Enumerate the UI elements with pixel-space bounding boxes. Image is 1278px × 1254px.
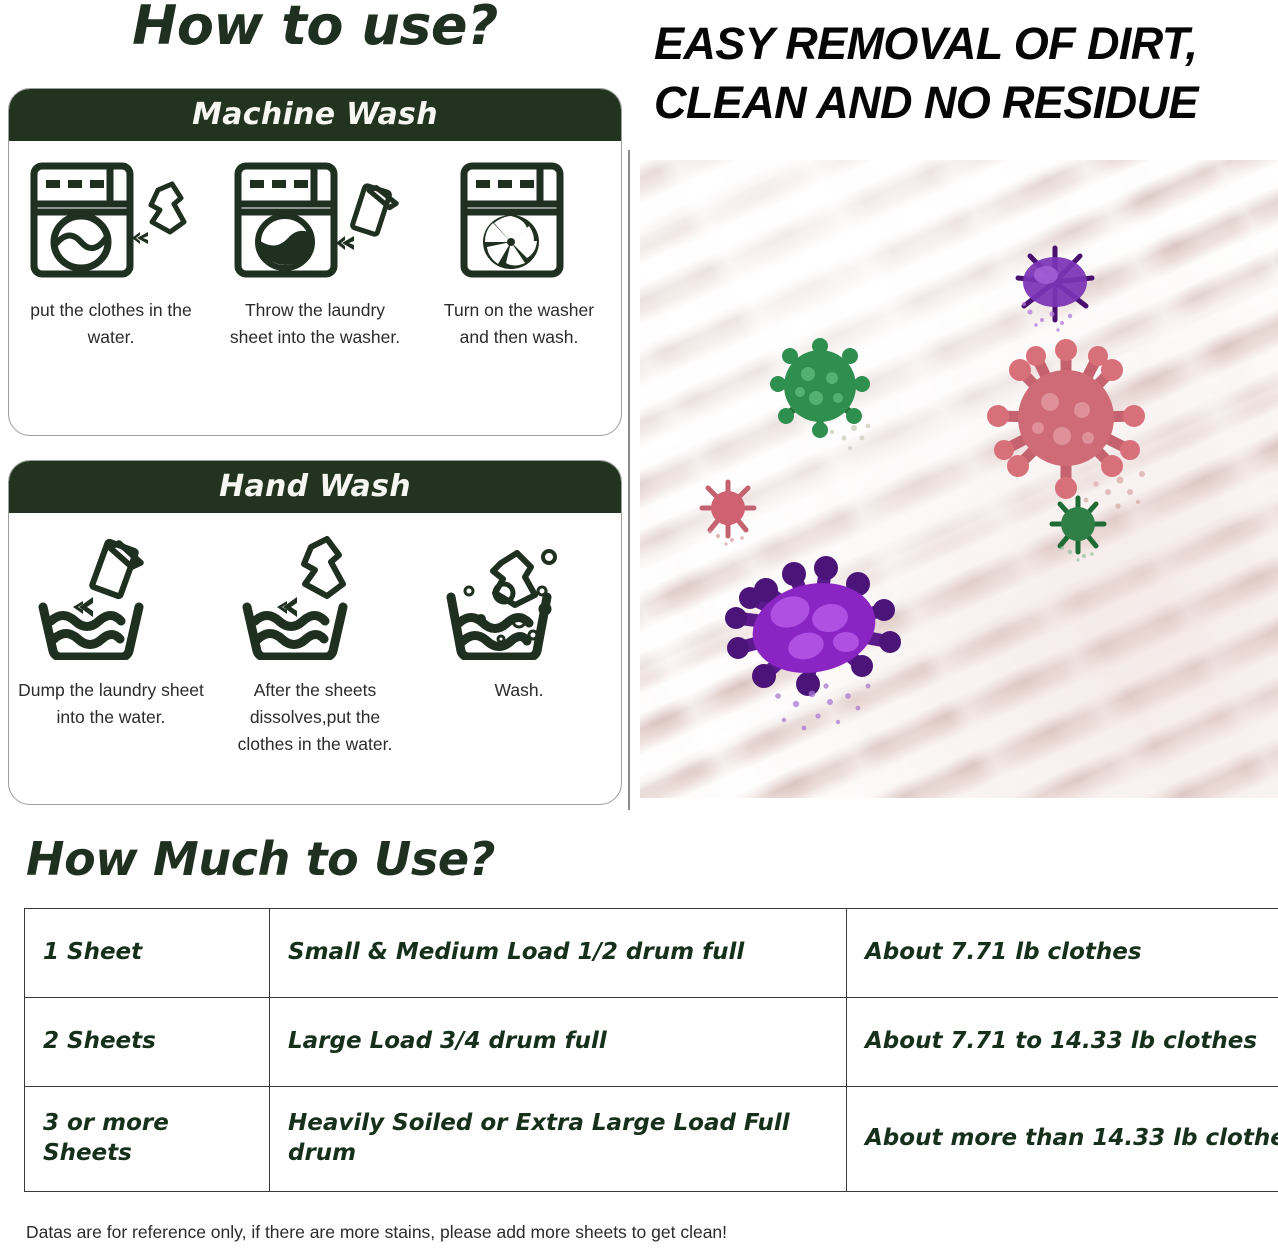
washing-machine-running-icon — [434, 155, 604, 285]
washing-machine-with-clothes-icon — [26, 155, 196, 285]
basin-with-shirt-icon — [225, 533, 405, 661]
vertical-divider — [628, 150, 630, 810]
usage-sheets-2: 2 Sheets — [25, 998, 270, 1087]
hand-wash-step-3: Wash. — [417, 513, 621, 758]
how-to-use-section: How to use? Machine Wash — [0, 0, 630, 816]
usage-sheets-1: 1 Sheet — [25, 909, 270, 998]
usage-sheets-3: 3 or more Sheets — [25, 1087, 270, 1192]
infographic-page: How to use? Machine Wash — [0, 0, 1278, 1254]
machine-wash-card: Machine Wash — [8, 88, 622, 436]
benefit-headline: EASY REMOVAL OF DIRT, CLEAN AND NO RESID… — [654, 14, 1274, 133]
hand-wash-step-1-caption: Dump the laundry sheet into the water. — [16, 677, 206, 731]
green-microbe-small — [1038, 488, 1118, 568]
table-row: 3 or more Sheets Heavily Soiled or Extra… — [25, 1087, 1278, 1192]
hand-wash-step-2-caption: After the sheets dissolves,put the cloth… — [220, 677, 410, 758]
basin-washing-icon — [429, 533, 609, 661]
machine-wash-header: Machine Wash — [9, 89, 621, 141]
hand-wash-steps: Dump the laundry sheet into the water. — [9, 513, 621, 758]
machine-wash-step-3: Turn on the washer and then wash. — [417, 141, 621, 351]
how-to-use-title: How to use? — [0, 0, 630, 57]
usage-weight-1: About 7.71 lb clothes — [847, 909, 1278, 998]
machine-wash-step-1: put the clothes in the water. — [9, 141, 213, 351]
basin-with-sheet-icon — [21, 533, 201, 661]
usage-load-2: Large Load 3/4 drum full — [270, 998, 847, 1087]
hand-wash-card: Hand Wash — [8, 460, 622, 805]
washing-machine-with-sheet-icon — [230, 155, 400, 285]
usage-table: 1 Sheet Small & Medium Load 1/2 drum ful… — [24, 908, 1278, 1192]
machine-wash-step-1-caption: put the clothes in the water. — [21, 297, 201, 351]
fabric-weave-with-microbes-photo — [640, 160, 1278, 798]
how-much-to-use-title: How Much to Use? — [26, 832, 495, 886]
benefit-section: EASY REMOVAL OF DIRT, CLEAN AND NO RESID… — [630, 0, 1278, 816]
usage-load-1: Small & Medium Load 1/2 drum full — [270, 909, 847, 998]
hand-wash-header: Hand Wash — [9, 461, 621, 513]
machine-wash-step-3-caption: Turn on the washer and then wash. — [429, 297, 609, 351]
green-microbe-medium — [758, 328, 888, 458]
machine-wash-step-2: Throw the laundry sheet into the washer. — [213, 141, 417, 351]
usage-load-3: Heavily Soiled or Extra Large Load Full … — [270, 1087, 847, 1192]
usage-weight-2: About 7.71 to 14.33 lb clothes — [847, 998, 1278, 1087]
purple-microbe-large — [708, 538, 928, 748]
table-row: 2 Sheets Large Load 3/4 drum full About … — [25, 998, 1278, 1087]
usage-weight-3: About more than 14.33 lb clothes — [847, 1087, 1278, 1192]
hand-wash-step-2: After the sheets dissolves,put the cloth… — [213, 513, 417, 758]
usage-footnote: Datas are for reference only, if there a… — [26, 1222, 727, 1243]
hand-wash-step-3-caption: Wash. — [495, 677, 544, 704]
hand-wash-step-1: Dump the laundry sheet into the water. — [9, 513, 213, 758]
machine-wash-steps: put the clothes in the water. — [9, 141, 621, 351]
machine-wash-step-2-caption: Throw the laundry sheet into the washer. — [225, 297, 405, 351]
table-row: 1 Sheet Small & Medium Load 1/2 drum ful… — [25, 909, 1278, 998]
